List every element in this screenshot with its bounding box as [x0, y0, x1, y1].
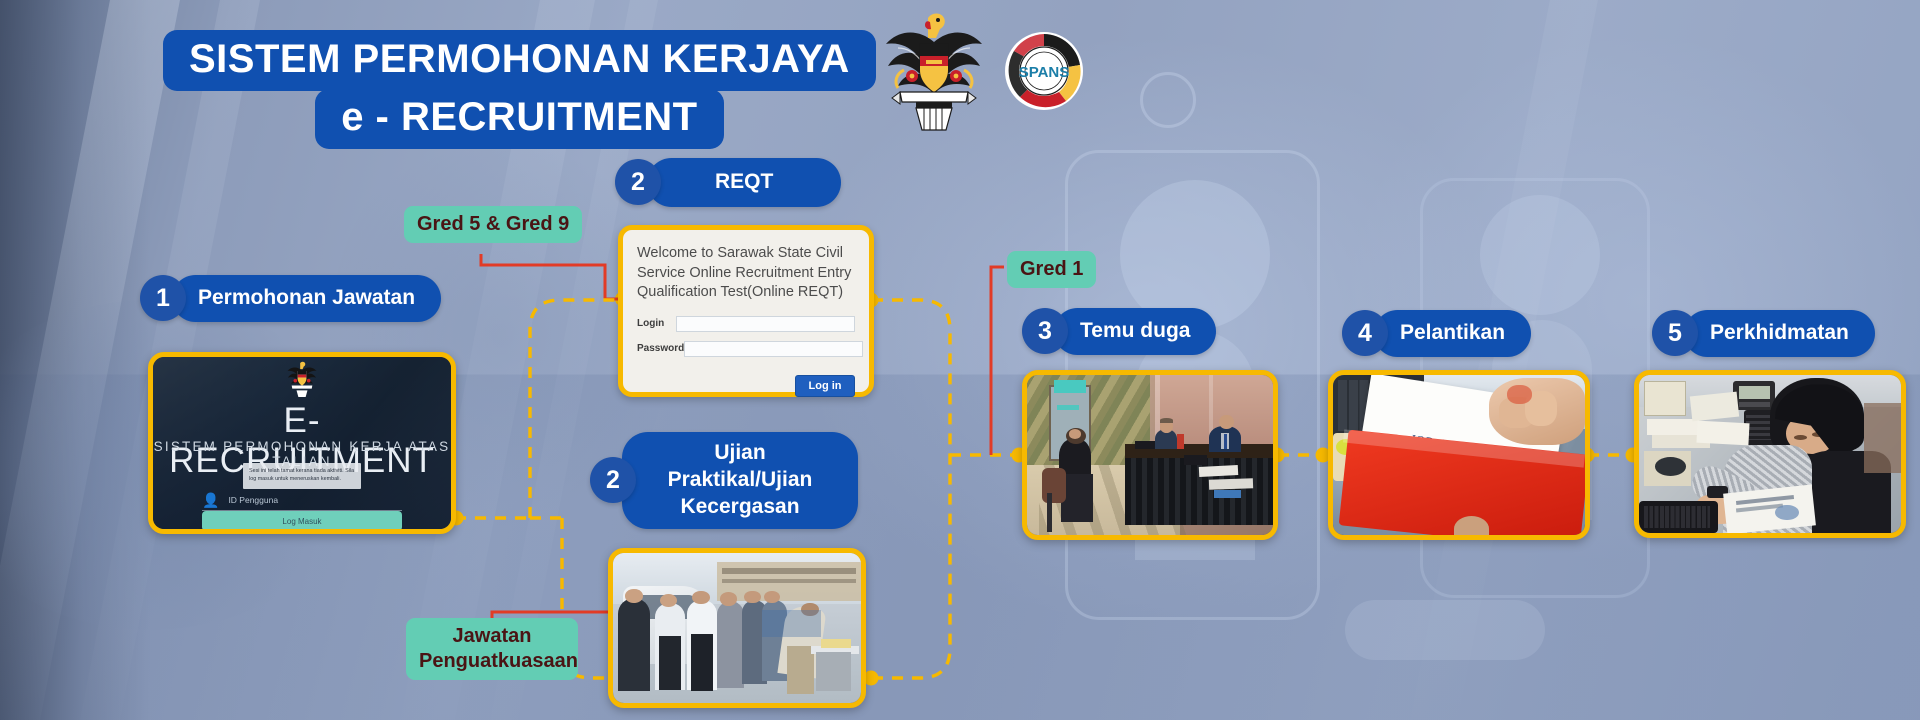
interview-photo-card[interactable] — [1022, 370, 1278, 540]
step-pill-2-reqt[interactable]: 2 REQT — [615, 158, 841, 207]
reqt-login-label: Login — [637, 318, 676, 329]
bg-circle — [1480, 195, 1600, 315]
bg-pill-shape — [1345, 600, 1545, 660]
infographic-stage: SISTEM PERMOHONAN KERJAYA e - RECRUITMEN… — [0, 0, 1920, 720]
step-pill-4[interactable]: 4 Pelantikan — [1342, 310, 1531, 357]
practical-test-photo — [613, 553, 861, 703]
practical-test-photo-card[interactable] — [608, 548, 866, 708]
step-label-2-practical: Ujian Praktikal/Ujian Kecergasan — [622, 432, 858, 529]
sarawak-coat-of-arms-icon — [878, 8, 990, 133]
service-officer-photo — [1639, 375, 1901, 533]
step-pill-5[interactable]: 5 Perkhidmatan — [1652, 310, 1875, 357]
step-label-4: Pelantikan — [1374, 310, 1531, 357]
interview-photo — [1027, 375, 1273, 535]
user-icon: 👤 — [202, 493, 219, 507]
erecruitment-user-field[interactable]: 👤 ID Pengguna — [202, 493, 402, 511]
page-title: SISTEM PERMOHONAN KERJAYA e - RECRUITMEN… — [163, 30, 876, 149]
bg-streak — [1410, 0, 1598, 720]
sarawak-coat-of-arms-icon — [285, 360, 319, 398]
title-line-1: SISTEM PERMOHONAN KERJAYA — [163, 30, 876, 91]
reqt-password-label: Password — [637, 343, 684, 354]
reqt-password-input[interactable] — [684, 341, 863, 357]
erecruitment-login-screen: E-RECRUITMENT SISTEM PERMOHONAN KERJA AT… — [153, 357, 451, 529]
step-number-2b: 2 — [590, 457, 636, 503]
step-label-2-reqt: REQT — [647, 158, 841, 207]
step-pill-2-practical[interactable]: 2 Ujian Praktikal/Ujian Kecergasan — [590, 432, 858, 529]
reqt-login-button[interactable]: Log in — [795, 375, 855, 397]
reqt-welcome-text: Welcome to Sarawak State Civil Service O… — [637, 244, 855, 303]
title-line-2: e - RECRUITMENT — [315, 89, 723, 149]
step-label-3: Temu duga — [1054, 308, 1216, 355]
tag-jawatan-penguatkuasaan: Jawatan Penguatkuasaan — [406, 618, 578, 680]
reqt-password-row: Password — [637, 341, 855, 357]
spans-logo-icon: SPANS — [1004, 31, 1084, 111]
service-photo-card[interactable] — [1634, 370, 1906, 538]
step-pill-1[interactable]: 1 Permohonan Jawatan — [140, 275, 441, 322]
reqt-login-panel[interactable]: Welcome to Sarawak State Civil Service O… — [618, 225, 874, 397]
tag-gred-1: Gred 1 — [1007, 251, 1096, 288]
job-offer-letter-photo: JOB OFFER LETTER — [1333, 375, 1585, 535]
step-pill-3[interactable]: 3 Temu duga — [1022, 308, 1216, 355]
spans-logo-text: SPANS — [1019, 64, 1070, 81]
reqt-login-row: Login — [637, 316, 855, 332]
bg-left-shade — [0, 0, 150, 720]
bg-circle-outline — [1140, 72, 1196, 128]
step-label-5: Perkhidmatan — [1684, 310, 1875, 357]
reqt-login-input[interactable] — [676, 316, 855, 332]
tag-gred-5-and-9: Gred 5 & Gred 9 — [404, 206, 582, 243]
erecruitment-submit-button[interactable]: Log Masuk — [202, 511, 402, 531]
erecruitment-session-notice: Sesi ini telah tamat kerana tiada aktivi… — [243, 463, 361, 489]
job-offer-photo-card[interactable]: JOB OFFER LETTER — [1328, 370, 1590, 540]
reqt-footer: Log in — [637, 366, 855, 397]
step-label-1: Permohonan Jawatan — [172, 275, 441, 322]
erecruitment-screenshot-card[interactable]: E-RECRUITMENT SISTEM PERMOHONAN KERJA AT… — [148, 352, 456, 534]
logo-group: SPANS — [878, 8, 1084, 133]
erecruitment-user-label: ID Pengguna — [228, 495, 278, 505]
